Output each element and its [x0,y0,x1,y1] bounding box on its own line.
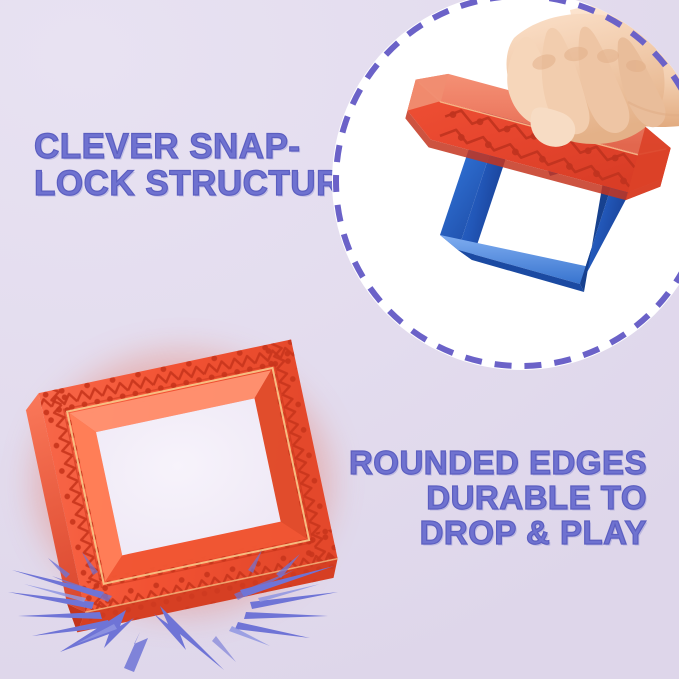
inset-scene [332,0,679,370]
impact-burst [8,540,338,675]
product-feature-infographic: CLEVER SNAP- LOCK STRUCTURE ROUNDED EDGE… [0,0,679,679]
headline-clever-snap-lock: CLEVER SNAP- LOCK STRUCTURE [34,128,366,202]
headline-rounded-edges: ROUNDED EDGES DURABLE TO DROP & PLAY [349,446,647,551]
child-hand [507,2,679,147]
circular-inset [332,0,679,370]
